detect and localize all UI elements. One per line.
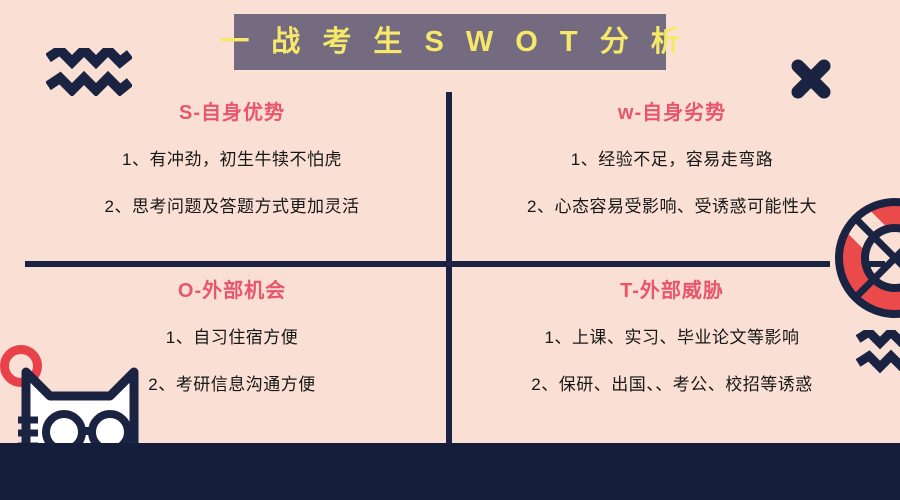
title-banner: 一 战 考 生 S W O T 分 析 [234,14,666,70]
list-item: 1、自习住宿方便 [20,323,444,348]
quadrant-divider-horizontal [25,261,885,267]
list-item: 1、经验不足，容易走弯路 [456,145,888,170]
page-title: 一 战 考 生 S W O T 分 析 [213,28,687,57]
zigzag-icon [46,48,132,96]
quadrant-strengths-items: 1、有冲劲，初生牛犊不怕虎 2、思考问题及答题方式更加灵活 [20,145,444,217]
quadrant-threats: T-外部威胁 1、上课、实习、毕业论文等影响 2、保研、出国、、考公、校招等诱惑 [456,270,888,438]
quadrant-strengths-header: S-自身优势 [20,96,444,125]
list-item: 2、思考问题及答题方式更加灵活 [20,192,444,217]
bottom-bar [0,443,900,500]
quadrant-divider-vertical [446,92,452,444]
list-item: 1、上课、实习、毕业论文等影响 [456,323,888,348]
quadrant-weaknesses: w-自身劣势 1、经验不足，容易走弯路 2、心态容易受影响、受诱惑可能性大 [456,92,888,260]
zigzag-icon [856,330,900,374]
list-item: 1、有冲劲，初生牛犊不怕虎 [20,145,444,170]
quadrant-threats-items: 1、上课、实习、毕业论文等影响 2、保研、出国、、考公、校招等诱惑 [456,323,888,395]
x-cross-icon [789,57,833,101]
swot-poster: 一 战 考 生 S W O T 分 析 S-自身优势 1、有冲劲，初生牛犊不怕虎… [0,0,900,500]
quadrant-weaknesses-items: 1、经验不足，容易走弯路 2、心态容易受影响、受诱惑可能性大 [456,145,888,217]
quadrant-strengths: S-自身优势 1、有冲劲，初生牛犊不怕虎 2、思考问题及答题方式更加灵活 [20,92,444,260]
cat-with-glasses-icon [16,358,144,454]
quadrant-opportunities-header: O-外部机会 [20,274,444,303]
list-item: 2、心态容易受影响、受诱惑可能性大 [456,192,888,217]
list-item: 2、保研、出国、、考公、校招等诱惑 [456,370,888,395]
quadrant-threats-header: T-外部威胁 [456,274,888,303]
lifebuoy-icon [830,193,900,323]
